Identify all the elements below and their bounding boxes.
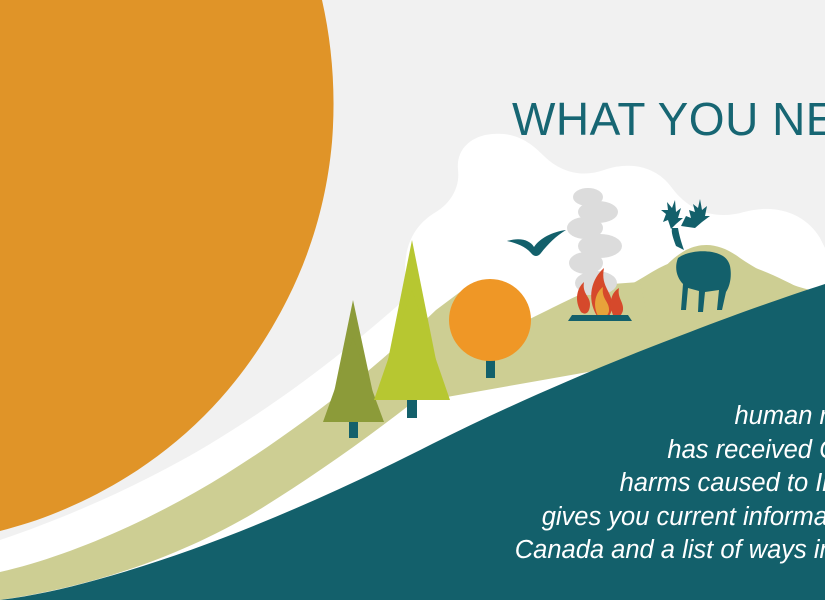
subtitle-line-1: rant: [0, 425, 140, 454]
title-line-1: ous: [0, 80, 202, 151]
body-paragraph: re language human right, and t has recei…: [300, 333, 825, 568]
body-line-5: harms caused to Indigenous: [300, 467, 825, 501]
deer-body: [676, 251, 731, 312]
body-line-4: has received Calls to Ac: [300, 434, 825, 468]
body-line-6: gives you current information about: [300, 501, 825, 535]
title-line-2: ges: [0, 151, 202, 222]
poster-title: ous ges da: [0, 80, 202, 292]
body-line-1: re: [300, 333, 825, 367]
body-line-7: Canada and a list of ways in which yo: [300, 534, 825, 568]
body-line-3: human right, and t: [300, 400, 825, 434]
page-headline: WHAT YOU NE: [512, 92, 825, 146]
poster-canvas: ous ges da rant n at WHAT YOU NE re lang…: [0, 0, 825, 600]
title-line-3: da: [0, 221, 202, 292]
body-line-2: language: [300, 367, 825, 401]
fire-logs: [568, 315, 632, 321]
poster-subtitle: rant n at: [0, 425, 140, 484]
subtitle-line-2: n at: [0, 454, 140, 483]
